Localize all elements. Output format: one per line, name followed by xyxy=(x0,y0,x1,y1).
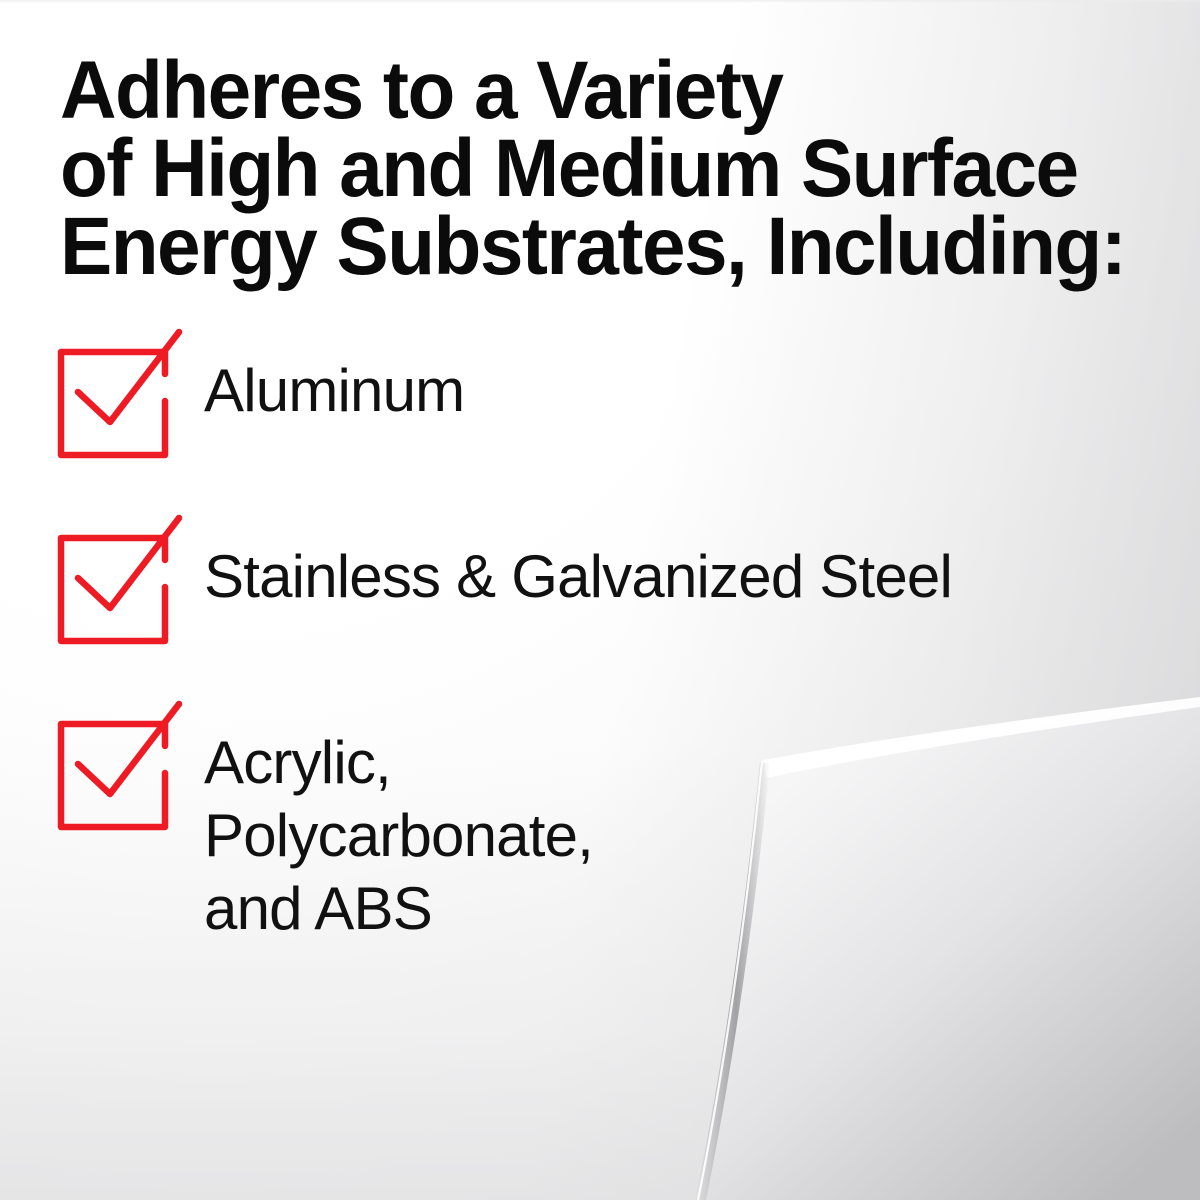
list-item: Acrylic, Polycarbonate, and ABS xyxy=(0,702,1200,982)
poster-canvas: Adheres to a Variety of High and Medium … xyxy=(0,0,1200,1200)
list-item: Aluminum xyxy=(0,330,1200,516)
checkbox-checked-icon xyxy=(48,526,198,676)
page-title: Adheres to a Variety of High and Medium … xyxy=(60,52,1120,286)
checkbox-checked-icon xyxy=(48,712,198,862)
headline-line-2: of High and Medium Surface xyxy=(60,130,1120,208)
list-item-label: Aluminum xyxy=(204,354,1200,427)
headline-line-1: Adheres to a Variety xyxy=(60,52,1120,130)
list-item-label: Stainless & Galvanized Steel xyxy=(204,540,1200,613)
list-item-label: Acrylic, Polycarbonate, and ABS xyxy=(204,726,1200,945)
substrate-checklist: Aluminum Stainless & Galvanized Steel Ac… xyxy=(0,330,1200,982)
list-item: Stainless & Galvanized Steel xyxy=(0,516,1200,702)
headline-line-3: Energy Substrates, Including: xyxy=(60,208,1120,286)
checkbox-checked-icon xyxy=(48,340,198,490)
